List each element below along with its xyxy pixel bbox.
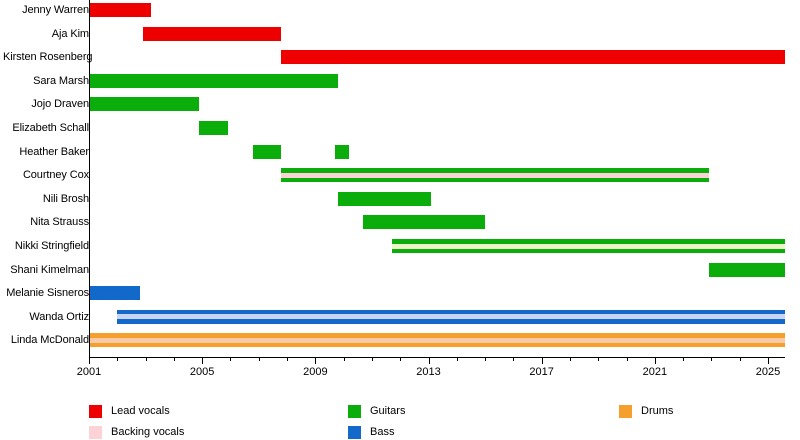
bar-segment	[709, 263, 785, 277]
x-tick-label: 2005	[190, 366, 214, 378]
legend-label: Bass	[370, 426, 394, 438]
x-tick-major	[655, 357, 656, 364]
x-tick-minor	[400, 357, 401, 361]
legend-label: Lead vocals	[111, 405, 170, 417]
chart-root: Jenny WarrenAja KimKirsten RosenbergSara…	[0, 0, 800, 440]
x-tick-minor	[627, 357, 628, 361]
x-tick-minor	[344, 357, 345, 361]
legend-item-backing-vocals[interactable]: Backing vocals	[89, 424, 184, 440]
x-tick-major	[429, 357, 430, 364]
x-tick-minor	[457, 357, 458, 361]
legend-item-bass[interactable]: Bass	[348, 424, 394, 440]
x-tick-major	[315, 357, 316, 364]
legend-swatch-icon	[89, 426, 102, 439]
legend-label: Guitars	[370, 405, 405, 417]
x-tick-major	[89, 357, 90, 364]
legend-item-lead-vocals[interactable]: Lead vocals	[89, 403, 170, 419]
x-tick-minor	[372, 357, 373, 361]
x-tick-label: 2025	[756, 366, 780, 378]
bar-segment	[89, 3, 151, 17]
x-tick-label: 2009	[303, 366, 327, 378]
x-tick-major	[542, 357, 543, 364]
legend-swatch-icon	[619, 405, 632, 418]
bar-segment	[281, 50, 785, 64]
gantt-plot-area: Jenny WarrenAja KimKirsten RosenbergSara…	[0, 0, 800, 360]
x-tick-minor	[598, 357, 599, 361]
bar-stripe-backing-vocals	[89, 338, 785, 343]
bar-segment	[363, 215, 485, 229]
x-tick-minor	[711, 357, 712, 361]
bar-segment	[338, 192, 431, 206]
bar-segment	[143, 27, 282, 41]
x-tick-label: 2001	[77, 366, 101, 378]
x-tick-minor	[485, 357, 486, 361]
x-tick-minor	[230, 357, 231, 361]
x-tick-major	[202, 357, 203, 364]
legend-label: Backing vocals	[111, 426, 184, 438]
bar-segment	[89, 97, 199, 111]
bars-layer	[0, 0, 800, 360]
bar-segment	[253, 145, 281, 159]
bar-segment	[89, 74, 338, 88]
x-tick-label: 2021	[643, 366, 667, 378]
bar-segment	[335, 145, 349, 159]
bar-stripe-backing-vocals	[117, 314, 785, 319]
bar-segment	[199, 121, 227, 135]
legend-swatch-icon	[89, 405, 102, 418]
x-tick-label: 2017	[529, 366, 553, 378]
legend-swatch-icon	[348, 405, 361, 418]
chart-legend: Lead vocalsBacking vocalsGuitarsBassDrum…	[0, 396, 800, 440]
x-tick-minor	[570, 357, 571, 361]
bar-stripe-backing-vocals	[392, 244, 785, 249]
legend-swatch-icon	[348, 426, 361, 439]
x-tick-minor	[287, 357, 288, 361]
x-tick-minor	[117, 357, 118, 361]
x-tick-minor	[174, 357, 175, 361]
legend-item-drums[interactable]: Drums	[619, 403, 673, 419]
legend-label: Drums	[641, 405, 673, 417]
x-tick-major	[768, 357, 769, 364]
x-tick-minor	[146, 357, 147, 361]
legend-item-guitars[interactable]: Guitars	[348, 403, 405, 419]
x-tick-minor	[259, 357, 260, 361]
bar-segment	[89, 286, 140, 300]
x-tick-minor	[740, 357, 741, 361]
x-axis-line	[89, 357, 785, 358]
x-tick-label: 2013	[416, 366, 440, 378]
bar-stripe-backing-vocals	[281, 173, 708, 178]
x-tick-minor	[683, 357, 684, 361]
y-axis-line	[89, 0, 90, 357]
x-tick-minor	[513, 357, 514, 361]
